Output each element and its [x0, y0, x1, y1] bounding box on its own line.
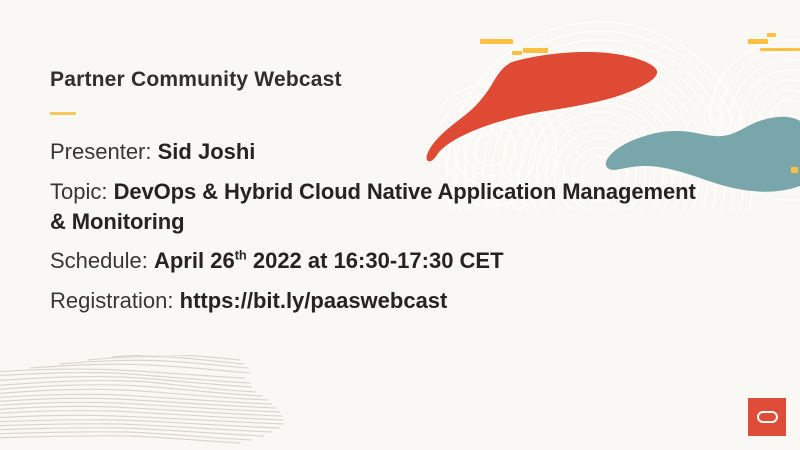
- title-accent-rule: [50, 112, 76, 115]
- schedule-date-prefix: April 26: [154, 248, 235, 273]
- schedule-date-ordinal: th: [235, 248, 247, 263]
- registration-url[interactable]: https://bit.ly/paaswebcast: [180, 288, 448, 313]
- webcast-slide: Partner Community Webcast Presenter: Sid…: [0, 0, 800, 450]
- schedule-value: April 26th 2022 at 16:30-17:30 CET: [154, 248, 504, 273]
- topic-label: Topic:: [50, 179, 107, 204]
- presenter-line: Presenter: Sid Joshi: [50, 137, 710, 167]
- topic-value: DevOps & Hybrid Cloud Native Application…: [50, 179, 696, 234]
- schedule-line: Schedule: April 26th 2022 at 16:30-17:30…: [50, 246, 710, 276]
- oracle-logo: [748, 398, 786, 436]
- bottom-left-wave-lines: [0, 355, 284, 443]
- schedule-date-suffix: 2022 at 16:30-17:30 CET: [247, 248, 504, 273]
- presenter-label: Presenter:: [50, 139, 152, 164]
- presenter-value: Sid Joshi: [158, 139, 256, 164]
- oracle-oval-mark: [757, 411, 778, 423]
- registration-label: Registration:: [50, 288, 174, 313]
- schedule-label: Schedule:: [50, 248, 148, 273]
- topic-line: Topic: DevOps & Hybrid Cloud Native Appl…: [50, 177, 710, 238]
- registration-line: Registration: https://bit.ly/paaswebcast: [50, 286, 710, 316]
- page-title: Partner Community Webcast: [50, 68, 710, 92]
- slide-content: Partner Community Webcast Presenter: Sid…: [50, 68, 710, 316]
